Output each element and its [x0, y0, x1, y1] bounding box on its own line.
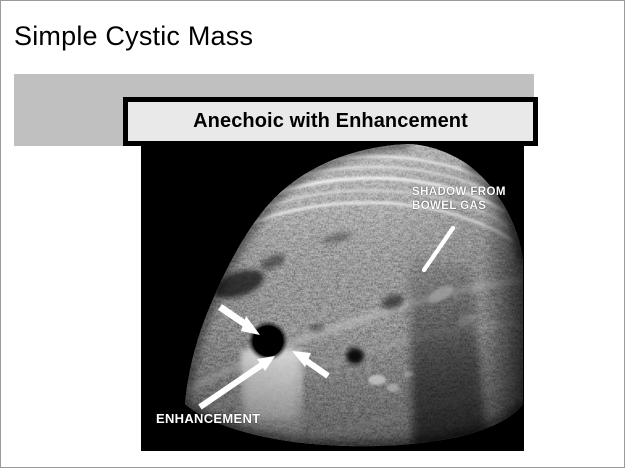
caption-box: Anechoic with Enhancement: [123, 97, 538, 146]
slide-canvas: Simple Cystic Mass Anechoic with Enhance…: [0, 0, 625, 468]
caption-label: Anechoic with Enhancement: [193, 110, 468, 133]
annotation-shadow-line1: SHADOW FROM: [412, 186, 506, 198]
annotation-shadow-line2: BOWEL GAS: [412, 200, 486, 212]
annotation-shadow-from-bowel-gas: SHADOW FROMBOWEL GAS: [412, 186, 506, 213]
annotation-enhancement: ENHANCEMENT: [156, 412, 260, 426]
page-title: Simple Cystic Mass: [14, 21, 253, 52]
